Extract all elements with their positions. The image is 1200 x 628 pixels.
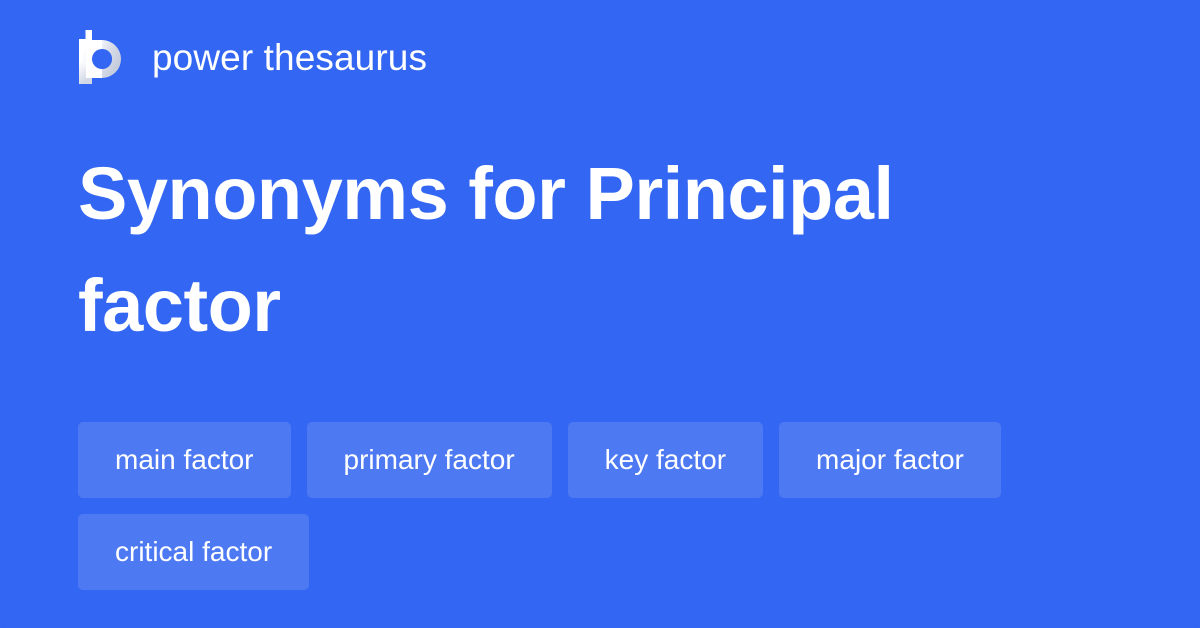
synonym-chip[interactable]: primary factor [307, 422, 552, 498]
brand-logo[interactable]: power thesaurus [78, 28, 427, 86]
synonym-chip[interactable]: main factor [78, 422, 291, 498]
page-title: Synonyms for Principal factor [78, 138, 1088, 362]
share-card: power thesaurus Synonyms for Principal f… [0, 0, 1200, 628]
synonym-chip[interactable]: critical factor [78, 514, 309, 590]
brand-name: power thesaurus [152, 39, 427, 76]
synonym-list: main factor primary factor key factor ma… [78, 422, 1128, 590]
synonym-chip[interactable]: key factor [568, 422, 763, 498]
synonym-chip[interactable]: major factor [779, 422, 1001, 498]
power-thesaurus-b-logo-icon [78, 30, 130, 84]
